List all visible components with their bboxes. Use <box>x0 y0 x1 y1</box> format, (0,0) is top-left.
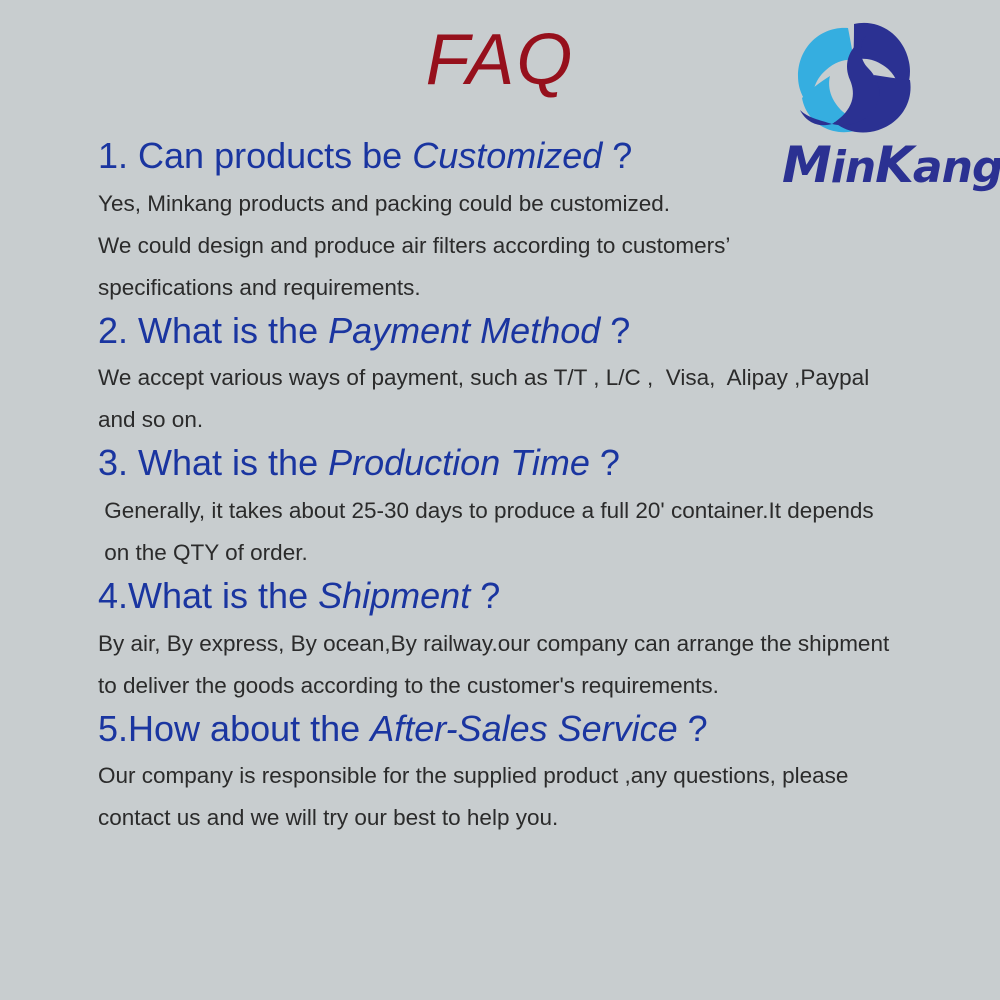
faq-question-5: 5.How about the After-Sales Service ? <box>98 707 978 752</box>
faq-answer-5-line-2: contact us and we will try our best to h… <box>98 797 978 839</box>
faq-answer-1-line-3: specifications and requirements. <box>98 267 978 309</box>
faq-question-4: 4.What is the Shipment ? <box>98 574 978 619</box>
faq-question-5-tail: ? <box>678 708 708 749</box>
pinwheel-swirl-icon <box>788 14 916 142</box>
faq-question-4-emphasis: Shipment <box>318 575 470 616</box>
faq-answer-3-line-1: Generally, it takes about 25-30 days to … <box>98 490 978 532</box>
faq-question-3-emphasis: Production Time <box>328 442 590 483</box>
faq-question-5-emphasis: After-Sales Service <box>370 708 677 749</box>
faq-item-5: 5.How about the After-Sales Service ? Ou… <box>98 707 978 840</box>
faq-question-5-number: 5. <box>98 708 128 749</box>
faq-item-2: 2. What is the Payment Method ? We accep… <box>98 309 978 442</box>
faq-question-1: 1. Can products be Customized ? <box>98 134 978 179</box>
faq-question-4-tail: ? <box>470 575 500 616</box>
faq-question-2-emphasis: Payment Method <box>328 310 600 351</box>
faq-question-3: 3. What is the Production Time ? <box>98 441 978 486</box>
faq-question-1-number: 1. <box>98 135 138 176</box>
faq-question-2-lead: What is the <box>138 310 328 351</box>
faq-question-2: 2. What is the Payment Method ? <box>98 309 978 354</box>
faq-question-4-lead: What is the <box>128 575 318 616</box>
faq-page: FAQ MinKang 1. Can products <box>0 0 1000 1000</box>
faq-question-1-emphasis: Customized <box>412 135 602 176</box>
faq-question-5-lead: How about the <box>128 708 370 749</box>
faq-item-1: 1. Can products be Customized ? Yes, Min… <box>98 134 978 309</box>
faq-answer-2-line-2: and so on. <box>98 399 978 441</box>
faq-question-1-tail: ? <box>602 135 632 176</box>
faq-answer-5-line-1: Our company is responsible for the suppl… <box>98 755 978 797</box>
faq-question-2-number: 2. <box>98 310 138 351</box>
faq-item-4: 4.What is the Shipment ? By air, By expr… <box>98 574 978 707</box>
faq-answer-1-line-1: Yes, Minkang products and packing could … <box>98 183 978 225</box>
faq-question-3-number: 3. <box>98 442 138 483</box>
faq-answer-1-line-2: We could design and produce air filters … <box>98 225 978 267</box>
faq-question-3-tail: ? <box>590 442 620 483</box>
faq-list: 1. Can products be Customized ? Yes, Min… <box>98 134 978 839</box>
faq-answer-2-line-1: We accept various ways of payment, such … <box>98 357 978 399</box>
faq-question-1-lead: Can products be <box>138 135 412 176</box>
faq-item-3: 3. What is the Production Time ? General… <box>98 441 978 574</box>
faq-answer-4-line-1: By air, By express, By ocean,By railway.… <box>98 623 978 665</box>
faq-question-3-lead: What is the <box>138 442 328 483</box>
faq-question-2-tail: ? <box>600 310 630 351</box>
faq-question-4-number: 4. <box>98 575 128 616</box>
faq-answer-3-line-2: on the QTY of order. <box>98 532 978 574</box>
faq-answer-4-line-2: to deliver the goods according to the cu… <box>98 665 978 707</box>
